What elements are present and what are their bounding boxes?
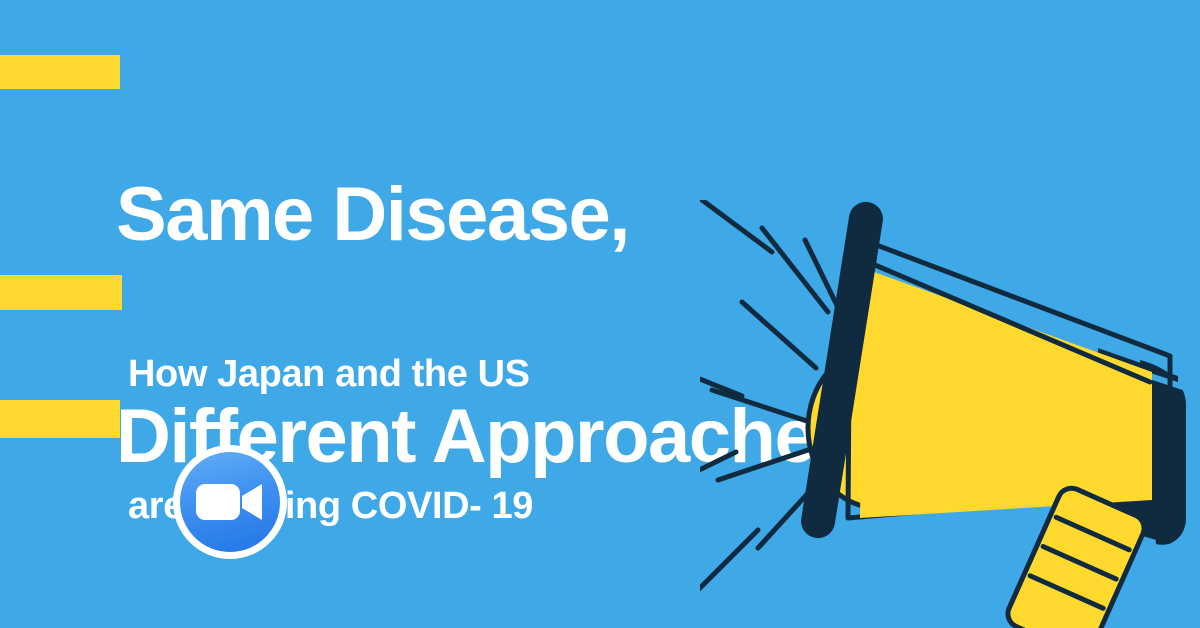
zoom-logo bbox=[172, 444, 288, 560]
accent-bar-subtitle bbox=[0, 275, 122, 310]
megaphone-cone bbox=[860, 268, 1152, 518]
accent-bar-title bbox=[0, 55, 120, 89]
megaphone-illustration bbox=[700, 200, 1200, 628]
accent-bar-logo bbox=[0, 400, 120, 438]
banner-canvas: Same Disease, Different Approaches How J… bbox=[0, 0, 1200, 628]
